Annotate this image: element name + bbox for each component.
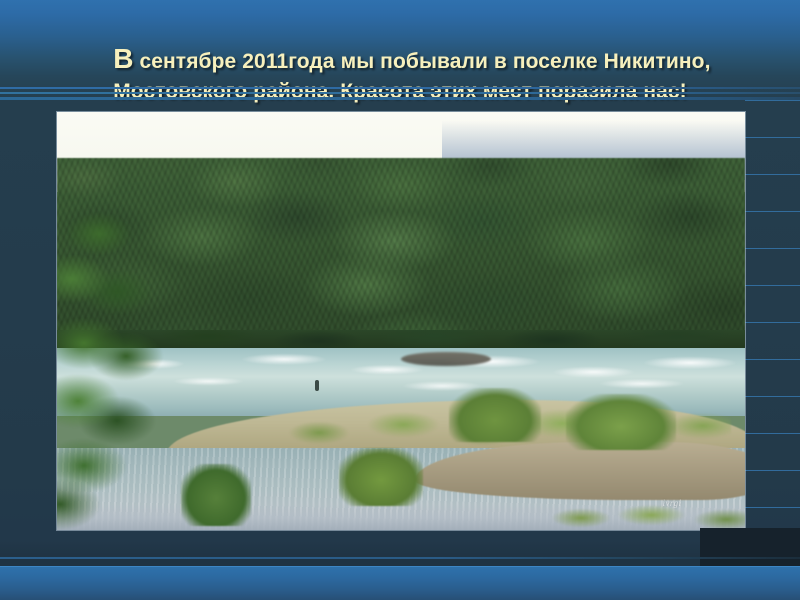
header-rule-2 <box>0 92 800 94</box>
bottom-band <box>0 566 800 600</box>
bush-lower-center <box>339 448 423 506</box>
bottom-band-top-rule <box>0 566 800 567</box>
bush-center <box>449 388 541 442</box>
bush-right <box>566 394 676 450</box>
bush-lower-left <box>181 464 251 526</box>
bottom-right-block <box>700 528 800 566</box>
grass-foreground-right <box>539 500 745 530</box>
header-decorative-rules <box>0 84 800 102</box>
photo-watermark: ivrgi <box>662 498 681 508</box>
slide-photo: ivrgi <box>57 112 745 530</box>
title-leading-capital: В <box>113 43 133 74</box>
side-decorative-rules <box>745 100 800 532</box>
photo-content: ivrgi <box>57 112 745 530</box>
midstream-rock <box>401 352 491 366</box>
person-figure <box>315 380 319 391</box>
header-rule-1 <box>0 87 800 89</box>
presentation-slide: В сентябре 2011года мы побывали в поселк… <box>0 0 800 600</box>
foreground-tree-left <box>57 208 189 530</box>
bottom-rule <box>0 557 800 559</box>
header-rule-3 <box>0 97 800 100</box>
